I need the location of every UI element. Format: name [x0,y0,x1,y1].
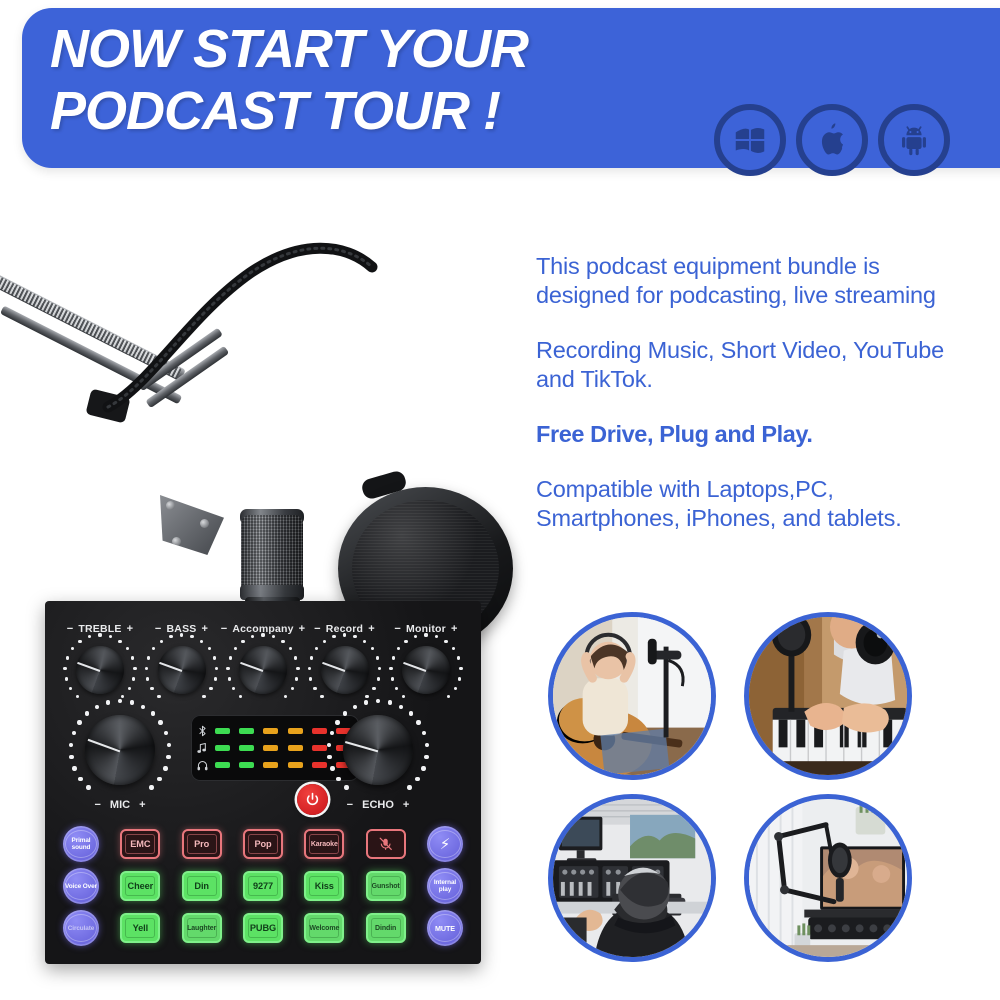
pad-circulate-label: Circulate [66,925,96,932]
pad-internal-play[interactable]: Internal play [427,868,463,904]
pad-voice-over-label: Voice Over [63,883,99,890]
pad-emc-label: EMC [130,839,150,849]
knob-accompany-dial[interactable] [233,640,293,700]
windows-icon [714,104,786,176]
pad-flash-effect[interactable]: ⚡ [427,826,463,862]
apple-icon [796,104,868,176]
lifestyle-photo-grid [548,612,968,964]
knob-echo-label: − ECHO + [335,799,421,811]
pad-row-1: Primal sound EMC Pro Pop Karaoke [55,823,471,865]
os-compatibility-icons [714,104,950,176]
knob-bass-minus: − [155,623,162,635]
knob-monitor[interactable]: − Monitor + [389,623,463,700]
knob-monitor-minus: − [394,623,401,635]
music-note-icon [197,742,207,754]
pad-dindin[interactable]: Dindin [366,913,406,943]
pad-laughter-label: Laughter [187,925,216,932]
knob-bass[interactable]: − BASS + [145,623,219,700]
knob-treble-plus: + [127,623,134,635]
knob-treble-minus: − [67,623,74,635]
pad-emc[interactable]: EMC [120,829,160,859]
led-panel-icons [191,715,213,781]
pad-laughter[interactable]: Laughter [182,913,222,943]
pad-pubg-label: PUBG [250,923,276,933]
pad-din-label: Din [194,881,209,891]
headphone-icon [197,760,208,771]
knob-bass-plus: + [201,623,208,635]
pad-effect-icon-button[interactable] [366,829,406,859]
pad-mute-label: MUTE [433,925,457,932]
knob-mic-name: MIC [110,799,130,811]
pad-pop-label: Pop [254,839,271,849]
microphone-grille [241,515,303,593]
knob-record-dial[interactable] [315,640,375,700]
pad-primal-sound[interactable]: Primal sound [63,826,99,862]
pad-9277-label: 9277 [253,881,273,891]
banner-title-line1: NOW START YOUR [50,19,528,79]
banner-title-line2: PODCAST TOUR ! [50,80,710,142]
page-title: NOW START YOUR PODCAST TOUR ! [50,18,710,142]
header-banner: NOW START YOUR PODCAST TOUR ! [22,8,1000,168]
pad-9277[interactable]: 9277 [243,871,283,901]
pad-pro-label: Pro [194,839,209,849]
pad-kiss-label: Kiss [315,881,334,891]
photo-guitarist-headphones [548,612,716,780]
knob-record-cap[interactable] [321,646,369,694]
knob-echo-minus: − [347,799,353,811]
pad-row-3: Circulate Yell Laughter PUBG Welcome Din… [55,907,471,949]
knob-mic-minus: − [94,799,100,811]
pad-mute[interactable]: MUTE [427,910,463,946]
knob-accompany-minus: − [221,623,228,635]
pad-welcome[interactable]: Welcome [304,913,344,943]
pad-welcome-label: Welcome [309,925,339,932]
copy-paragraph-2: Recording Music, Short Video, YouTube an… [536,336,968,394]
pad-gunshot-label: Gunshot [372,883,400,890]
sound-pad-grid: Primal sound EMC Pro Pop Karaoke [55,823,471,949]
knob-record-minus: − [314,623,321,635]
power-button[interactable] [297,784,328,815]
copy-paragraph-3-highlight: Free Drive, Plug and Play. [536,420,968,449]
pad-voice-over[interactable]: Voice Over [63,868,99,904]
knob-bass-cap[interactable] [158,646,206,694]
knob-record[interactable]: − Record + [308,623,382,700]
pad-karaoke[interactable]: Karaoke [304,829,344,859]
knob-echo[interactable]: − ECHO + [335,707,421,793]
pad-primal-sound-label: Primal sound [63,837,99,851]
feature-copy: This podcast equipment bundle is designe… [536,228,968,559]
pad-flash-effect-label: ⚡ [438,837,452,852]
pad-kiss[interactable]: Kiss [304,871,344,901]
pad-yell[interactable]: Yell [120,913,160,943]
knob-monitor-cap[interactable] [402,646,450,694]
knob-mic[interactable]: − MIC + [77,707,163,793]
photo-desk-podcast-setup [744,794,912,962]
pad-cheer[interactable]: Cheer [120,871,160,901]
product-photo-microphone-kit [0,195,520,615]
pad-yell-label: Yell [133,923,148,933]
pad-pro[interactable]: Pro [182,829,222,859]
knob-mic-label: − MIC + [77,799,163,811]
copy-paragraph-4: Compatible with Laptops,PC, Smartphones,… [536,475,968,533]
knob-record-plus: + [368,623,375,635]
photo-studio-engineer [548,794,716,962]
sound-card-device: − TREBLE + − BASS + − Accompan [45,601,481,964]
pad-cheer-label: Cheer [128,881,154,891]
knob-treble[interactable]: − TREBLE + [63,623,137,700]
knob-monitor-dial[interactable] [396,640,456,700]
pad-pop[interactable]: Pop [243,829,283,859]
pad-pubg[interactable]: PUBG [243,913,283,943]
android-icon [878,104,950,176]
knob-monitor-plus: + [451,623,458,635]
knob-mic-plus: + [139,799,145,811]
microphone-slash-icon [378,837,394,851]
eq-knob-row: − TREBLE + − BASS + − Accompan [63,623,463,700]
knob-echo-name: ECHO [362,799,394,811]
pad-row-2: Voice Over Cheer Din 9277 Kiss Gunshot I… [55,865,471,907]
knob-accompany-plus: + [299,623,306,635]
knob-mic-cap[interactable] [85,715,155,785]
bluetooth-icon [198,725,207,737]
knob-treble-cap[interactable] [76,646,124,694]
knob-echo-plus: + [403,799,409,811]
copy-paragraph-1: This podcast equipment bundle is designe… [536,252,968,310]
photo-keyboard-player [744,612,912,780]
pad-circulate[interactable]: Circulate [63,910,99,946]
knob-accompany[interactable]: − Accompany + [226,623,300,700]
pad-gunshot[interactable]: Gunshot [366,871,406,901]
knob-echo-cap[interactable] [343,715,413,785]
pad-dindin-label: Dindin [375,925,396,932]
knob-treble-dial[interactable] [70,640,130,700]
knob-bass-dial[interactable] [152,640,212,700]
pad-karaoke-label: Karaoke [311,841,338,848]
knob-accompany-cap[interactable] [239,646,287,694]
pad-din[interactable]: Din [182,871,222,901]
pad-internal-play-label: Internal play [427,879,463,893]
